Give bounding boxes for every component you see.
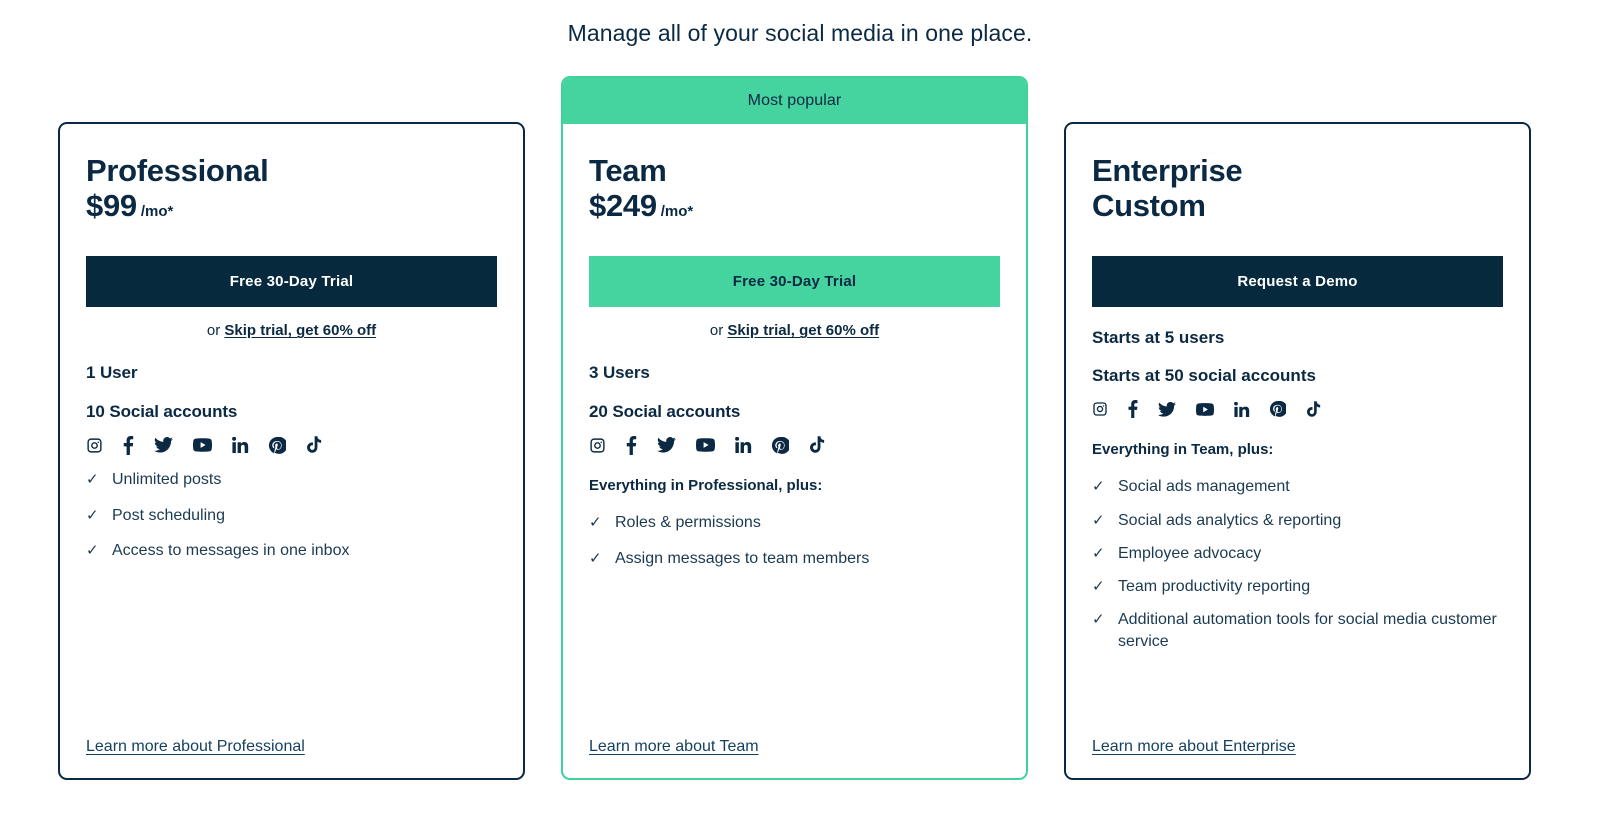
card-footer-professional: Learn more about Professional: [86, 738, 497, 756]
cta-button-enterprise[interactable]: Request a Demo: [1092, 256, 1503, 307]
spec-accounts-professional: 10 Social accounts: [86, 402, 497, 422]
plus-heading-team: Everything in Professional, plus:: [589, 477, 1000, 494]
feature-list-team: ✓ Roles & permissions ✓ Assign messages …: [589, 512, 1000, 582]
plus-heading-enterprise: Everything in Team, plus:: [1092, 441, 1503, 458]
learn-more-link-team[interactable]: Learn more about Team: [589, 738, 759, 756]
check-icon: ✓: [1092, 510, 1112, 532]
card-footer-enterprise: Learn more about Enterprise: [1092, 738, 1503, 756]
feature-label: Assign messages to team members: [615, 548, 1000, 570]
tiktok-icon: [306, 436, 322, 454]
pinterest-icon: [269, 437, 286, 454]
cta-button-professional[interactable]: Free 30-Day Trial: [86, 256, 497, 307]
feature-label: Employee advocacy: [1118, 543, 1503, 565]
most-popular-badge: Most popular: [563, 78, 1026, 124]
price-row-professional: $99 /mo*: [86, 189, 497, 224]
plan-price-enterprise: Custom: [1092, 189, 1206, 224]
feature-label: Unlimited posts: [112, 469, 497, 491]
spec-accounts-team: 20 Social accounts: [589, 402, 1000, 422]
feature-item: ✓ Roles & permissions: [589, 512, 1000, 534]
feature-list-professional: ✓ Unlimited posts ✓ Post scheduling ✓ Ac…: [86, 469, 497, 574]
pricing-card-team: Most popular Team $249 /mo* Free 30-Day …: [561, 76, 1028, 780]
spec-users-professional: 1 User: [86, 363, 497, 383]
card-footer-team: Learn more about Team: [589, 738, 1000, 756]
linkedin-icon: [232, 437, 249, 453]
check-icon: ✓: [1092, 543, 1112, 565]
twitter-icon: [1158, 402, 1176, 417]
feature-label: Team productivity reporting: [1118, 576, 1503, 598]
skip-trial-prefix-professional: or: [207, 322, 225, 339]
twitter-icon: [154, 437, 173, 453]
check-icon: ✓: [1092, 476, 1112, 498]
feature-item: ✓ Social ads analytics & reporting: [1092, 510, 1503, 532]
linkedin-icon: [1234, 402, 1250, 417]
plan-price-suffix-professional: /mo*: [141, 204, 174, 221]
feature-item: ✓ Post scheduling: [86, 505, 497, 527]
pinterest-icon: [772, 437, 789, 454]
feature-item: ✓ Assign messages to team members: [589, 548, 1000, 570]
tiktok-icon: [1306, 401, 1321, 418]
plan-name-enterprise: Enterprise: [1092, 154, 1503, 189]
facebook-icon: [1128, 400, 1138, 418]
instagram-icon: [589, 437, 606, 454]
check-icon: ✓: [86, 469, 106, 491]
skip-trial-line-professional: or Skip trial, get 60% off: [86, 322, 497, 339]
pricing-card-enterprise: Enterprise Custom Request a Demo Starts …: [1064, 122, 1531, 780]
skip-trial-link-team[interactable]: Skip trial, get 60% off: [727, 322, 879, 339]
feature-item: ✓ Access to messages in one inbox: [86, 540, 497, 562]
check-icon: ✓: [1092, 576, 1112, 598]
youtube-icon: [193, 438, 212, 452]
plan-price-suffix-team: /mo*: [661, 204, 694, 221]
plan-price-team: $249: [589, 189, 657, 224]
feature-label: Post scheduling: [112, 505, 497, 527]
learn-more-link-professional[interactable]: Learn more about Professional: [86, 738, 305, 756]
price-row-team: $249 /mo*: [589, 189, 1000, 224]
instagram-icon: [86, 437, 103, 454]
pricing-card-professional: Professional $99 /mo* Free 30-Day Trial …: [58, 122, 525, 780]
plan-name-professional: Professional: [86, 154, 497, 189]
pricing-cards-row: Professional $99 /mo* Free 30-Day Trial …: [58, 76, 1542, 806]
feature-item: ✓ Team productivity reporting: [1092, 576, 1503, 598]
check-icon: ✓: [86, 505, 106, 527]
check-icon: ✓: [1092, 609, 1112, 631]
plan-name-team: Team: [589, 154, 1000, 189]
social-icons-enterprise: [1092, 399, 1503, 419]
feature-label: Social ads management: [1118, 476, 1503, 498]
check-icon: ✓: [86, 540, 106, 562]
linkedin-icon: [735, 437, 752, 453]
learn-more-link-enterprise[interactable]: Learn more about Enterprise: [1092, 738, 1296, 756]
social-icons-professional: [86, 435, 497, 455]
skip-trial-line-team: or Skip trial, get 60% off: [589, 322, 1000, 339]
cta-button-team[interactable]: Free 30-Day Trial: [589, 256, 1000, 307]
page-headline: Manage all of your social media in one p…: [0, 20, 1600, 47]
pricing-card-team-body: Team $249 /mo* Free 30-Day Trial or Skip…: [563, 124, 1026, 778]
skip-trial-link-professional[interactable]: Skip trial, get 60% off: [224, 322, 376, 339]
feature-item: ✓ Employee advocacy: [1092, 543, 1503, 565]
social-icons-team: [589, 435, 1000, 455]
spec-users-team: 3 Users: [589, 363, 1000, 383]
facebook-icon: [123, 436, 134, 455]
youtube-icon: [1196, 403, 1214, 416]
skip-trial-prefix-team: or: [710, 322, 728, 339]
check-icon: ✓: [589, 512, 609, 534]
price-row-enterprise: Custom: [1092, 189, 1503, 224]
spec-users-enterprise: Starts at 5 users: [1092, 328, 1503, 348]
plan-price-professional: $99: [86, 189, 137, 224]
feature-label: Access to messages in one inbox: [112, 540, 497, 562]
check-icon: ✓: [589, 548, 609, 570]
pinterest-icon: [1270, 401, 1286, 417]
feature-label: Roles & permissions: [615, 512, 1000, 534]
twitter-icon: [657, 437, 676, 453]
pricing-page: Manage all of your social media in one p…: [0, 0, 1600, 826]
feature-label: Additional automation tools for social m…: [1118, 609, 1503, 653]
tiktok-icon: [809, 436, 825, 454]
feature-item: ✓ Unlimited posts: [86, 469, 497, 491]
facebook-icon: [626, 436, 637, 455]
feature-list-enterprise: ✓ Social ads management ✓ Social ads ana…: [1092, 476, 1503, 663]
feature-item: ✓ Additional automation tools for social…: [1092, 609, 1503, 653]
youtube-icon: [696, 438, 715, 452]
spec-accounts-enterprise: Starts at 50 social accounts: [1092, 366, 1503, 386]
feature-label: Social ads analytics & reporting: [1118, 510, 1503, 532]
instagram-icon: [1092, 401, 1108, 417]
feature-item: ✓ Social ads management: [1092, 476, 1503, 498]
